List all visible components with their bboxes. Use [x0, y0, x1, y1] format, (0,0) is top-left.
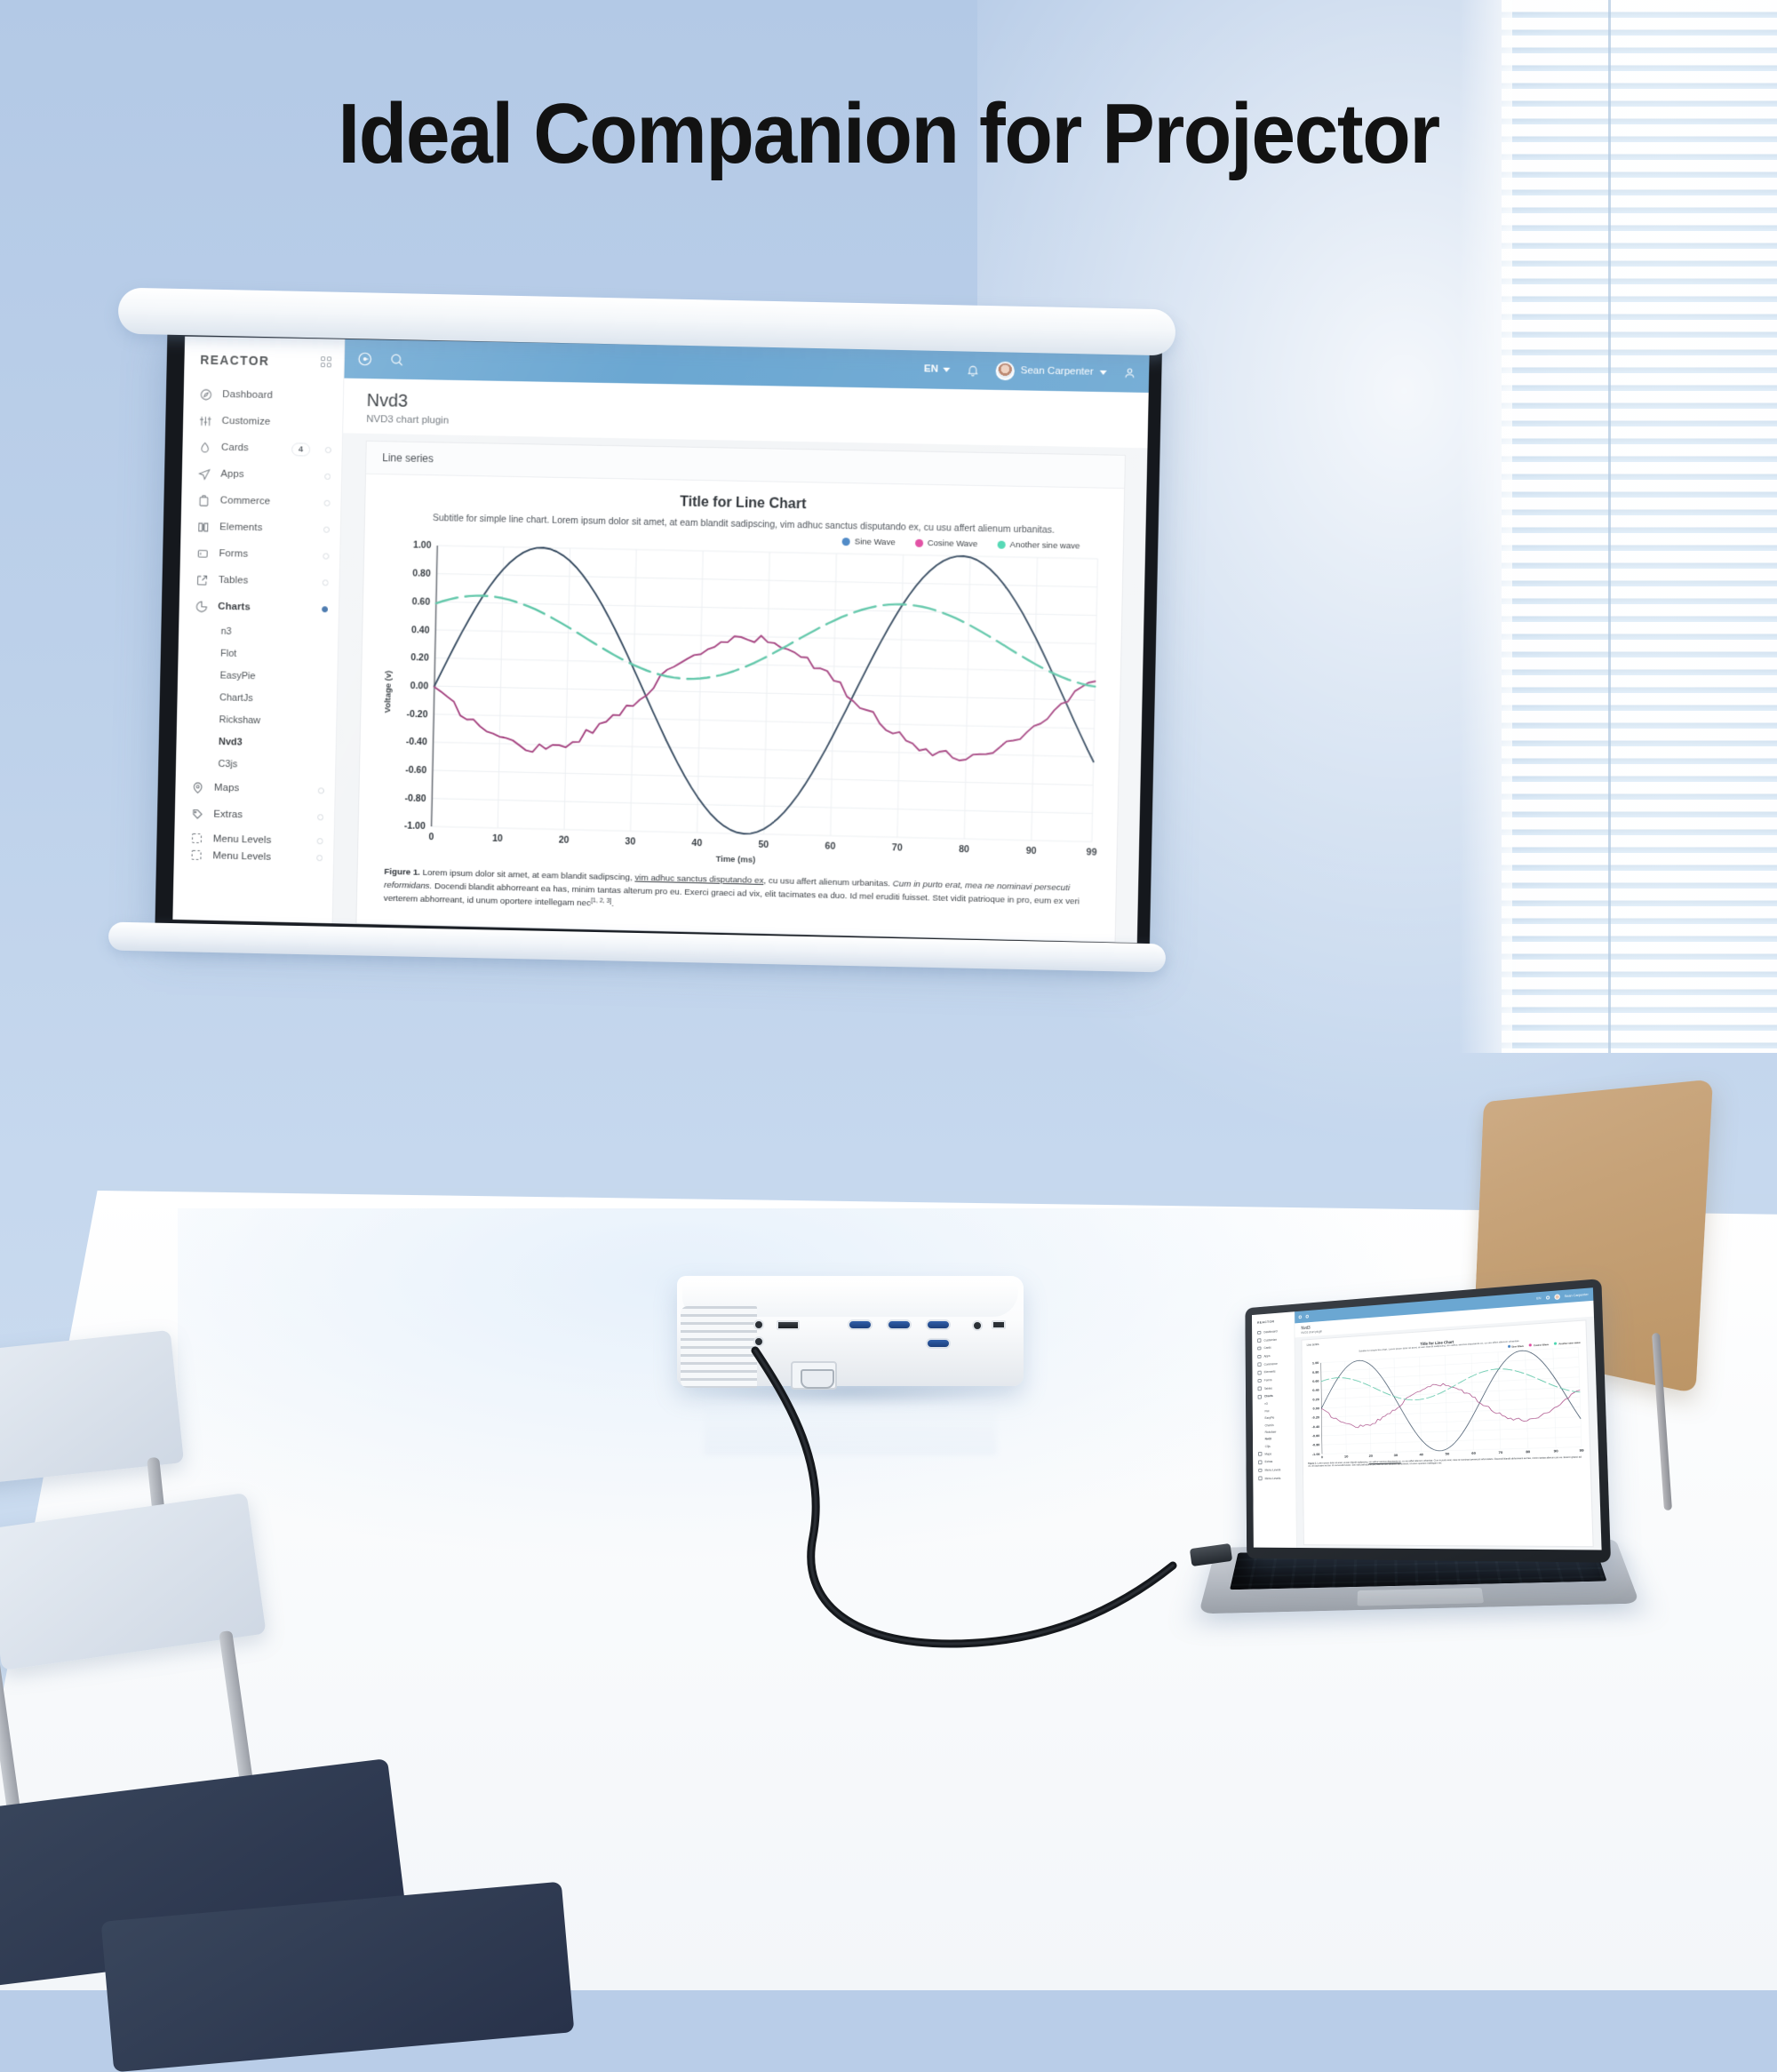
sidebar-item-label: Apps [220, 469, 315, 482]
sidebar-subitem-n3[interactable]: n3 [179, 619, 339, 645]
form-icon [196, 546, 210, 560]
laptop-screen: REACTOR Dashboard Customize Cards Apps C… [1252, 1287, 1602, 1550]
sidebar-item-customize[interactable]: Customize [183, 407, 343, 436]
svg-text:0: 0 [428, 832, 434, 842]
sidebar-badge-count: 4 [291, 442, 310, 456]
book-icon [196, 520, 210, 533]
svg-text:99: 99 [1579, 1448, 1583, 1452]
projector [677, 1260, 1024, 1411]
user-menu[interactable]: Sean Carpenter [995, 361, 1107, 381]
language-label: EN [924, 363, 938, 374]
figure-caption-label: Figure 1. [384, 867, 420, 878]
projector-body [677, 1276, 1024, 1386]
laptop: REACTOR Dashboard Customize Cards Apps C… [1217, 1293, 1617, 1666]
grid-icon[interactable] [320, 356, 331, 368]
svg-text:10: 10 [1344, 1454, 1348, 1458]
svg-text:-0.20: -0.20 [406, 708, 427, 720]
sidebar-status-dot [323, 526, 330, 532]
laptop-lid: REACTOR Dashboard Customize Cards Apps C… [1245, 1279, 1611, 1563]
legend-item-another-sine-wave[interactable]: Another sine wave [997, 539, 1080, 551]
laptop-trackpad[interactable] [1357, 1588, 1484, 1606]
svg-text:-0.40: -0.40 [1312, 1425, 1320, 1429]
sidebar-item-charts[interactable]: Charts [179, 593, 339, 623]
sidebar-item-label: Charts [218, 602, 312, 614]
legend-label: Cosine Wave [928, 538, 978, 549]
sidebar-item-cards[interactable]: Cards 4 [182, 434, 342, 463]
chart-card: Line series Title for Line Chart Subtitl… [355, 441, 1126, 943]
svg-text:20: 20 [1369, 1454, 1373, 1458]
mini-bell-icon[interactable] [1546, 1295, 1550, 1299]
dashboard-app: REACTOR Dashboard [172, 337, 1149, 944]
svg-text:1.00: 1.00 [1312, 1361, 1319, 1365]
projector-vent [681, 1306, 757, 1388]
screen-frame: REACTOR Dashboard [155, 322, 1162, 955]
sidebar-item-label: Forms [219, 548, 313, 561]
svg-text:0.00: 0.00 [410, 681, 429, 692]
vga-port [848, 1319, 873, 1330]
projector-power-socket [791, 1361, 837, 1390]
mini-avatar [1554, 1294, 1560, 1300]
avatar [995, 361, 1015, 379]
svg-text:-1.00: -1.00 [404, 821, 426, 833]
dashed-square-icon [190, 849, 203, 862]
mini-chart-card: Line series Title for Line Chart Subtitl… [1301, 1319, 1593, 1547]
svg-text:60: 60 [825, 841, 835, 852]
headline: Ideal Companion for Projector [62, 85, 1715, 183]
svg-text:-0.80: -0.80 [1312, 1443, 1320, 1446]
legend-swatch [915, 538, 923, 546]
figure-caption-text-2: , cu usu affert alienum urbanitas. [763, 876, 892, 889]
sidebar-item-forms[interactable]: Forms [180, 539, 340, 569]
svg-text:40: 40 [691, 838, 702, 849]
svg-text:0.40: 0.40 [1312, 1389, 1319, 1392]
svg-text:60: 60 [1471, 1452, 1476, 1455]
svg-text:0.80: 0.80 [1312, 1370, 1319, 1374]
bell-icon[interactable] [966, 363, 979, 377]
sidebar-status-dot-active [322, 606, 328, 612]
sliders-icon [199, 414, 212, 427]
sidebar-status-dot [316, 855, 323, 861]
user-icon[interactable] [1123, 366, 1136, 379]
legend-item-cosine-wave[interactable]: Cosine Wave [915, 538, 978, 548]
svg-text:99: 99 [1086, 847, 1096, 858]
svg-text:80: 80 [959, 843, 969, 855]
legend-swatch [997, 540, 1005, 548]
plot-row: Voltage (v) 1.000.800.600.400.200.00-0.2… [378, 539, 1103, 862]
power-jack [972, 1320, 983, 1331]
language-selector[interactable]: EN [924, 363, 950, 375]
legend-label: Another sine wave [1009, 540, 1080, 552]
sidebar-item-label: Dashboard [222, 389, 332, 402]
svg-text:20: 20 [559, 834, 570, 846]
user-name: Sean Carpenter [1021, 365, 1094, 378]
figure-caption-text-4: . [611, 899, 614, 909]
svg-text:0.20: 0.20 [410, 652, 429, 664]
svg-text:80: 80 [1526, 1450, 1530, 1454]
sidebar-item-extras[interactable]: Extras [175, 801, 335, 831]
sidebar-status-dot [324, 499, 331, 506]
map-pin-icon [191, 781, 204, 794]
svg-text:0.60: 0.60 [1312, 1379, 1319, 1383]
svg-text:90: 90 [1554, 1449, 1558, 1453]
line-chart-svg: 1.000.800.600.400.200.00-0.20-0.40-0.60-… [392, 539, 1103, 861]
svg-text:0.00: 0.00 [1313, 1407, 1319, 1410]
laptop-dashboard-mirror: REACTOR Dashboard Customize Cards Apps C… [1252, 1287, 1602, 1550]
svg-text:-0.20: -0.20 [1311, 1415, 1319, 1419]
power-icon[interactable] [357, 351, 373, 367]
svg-text:90: 90 [1025, 845, 1036, 857]
search-icon[interactable] [388, 352, 404, 368]
hdmi-port [777, 1320, 800, 1330]
svg-text:1.00: 1.00 [413, 540, 432, 552]
mini-language[interactable]: EN [1536, 1296, 1541, 1301]
legend-item-sine-wave[interactable]: Sine Wave [842, 537, 896, 547]
sidebar-subitem-easypie[interactable]: EasyPie [178, 664, 338, 689]
mini-power-icon[interactable] [1299, 1315, 1303, 1319]
audio-port [753, 1319, 764, 1330]
svg-text:-0.60: -0.60 [1312, 1434, 1320, 1438]
legend-label: Sine Wave [855, 537, 896, 547]
sidebar-status-dot [318, 787, 324, 793]
figure-caption-underlined: vim adhuc sanctus disputando ex [634, 873, 763, 885]
sidebar-item-label: Tables [219, 575, 313, 587]
pie-chart-icon [195, 600, 208, 613]
svg-text:30: 30 [1394, 1454, 1398, 1457]
chevron-down-icon [943, 367, 950, 371]
sidebar-status-dot [324, 473, 331, 479]
svg-text:-0.80: -0.80 [404, 793, 426, 804]
svg-text:10: 10 [492, 833, 503, 843]
sidebar-status-dot [325, 446, 331, 452]
vga-port [887, 1319, 912, 1330]
page-body: Line series Title for Line Chart Subtitl… [333, 433, 1148, 943]
mini-page-body: Line series Title for Line Chart Subtitl… [1295, 1317, 1601, 1550]
sidebar-subitem-chartjs[interactable]: ChartJs [177, 685, 337, 711]
sidebar-status-dot [317, 838, 323, 844]
droplet-icon [198, 441, 211, 454]
chevron-down-icon [1100, 370, 1107, 374]
serial-port [926, 1338, 951, 1349]
sidebar-item-label: Cards [221, 442, 282, 454]
svg-text:30: 30 [625, 836, 635, 848]
svg-text:0.40: 0.40 [411, 624, 430, 635]
external-link-icon [195, 573, 209, 586]
mini-sidebar: REACTOR Dashboard Customize Cards Apps C… [1252, 1311, 1297, 1548]
svg-text:-1.00: -1.00 [1312, 1453, 1320, 1456]
sidebar-subitem-flot[interactable]: Flot [178, 642, 338, 667]
sidebar: REACTOR Dashboard [172, 337, 345, 924]
figure-caption-superscript: [1, 2, 3] [591, 897, 611, 905]
plot-area: 1.000.800.600.400.200.00-0.20-0.40-0.60-… [392, 539, 1103, 861]
sidebar-status-dot [323, 553, 329, 559]
figure-caption-text-1: Lorem ipsum dolor sit amet, at eam bland… [420, 867, 635, 882]
brand-row: REACTOR [184, 347, 344, 384]
usb-port [992, 1320, 1006, 1329]
svg-text:-0.40: -0.40 [406, 737, 427, 748]
sidebar-item-dashboard[interactable]: Dashboard [183, 380, 343, 410]
sidebar-item-label: Customize [221, 416, 331, 428]
sidebar-item-label: Menu Levels [212, 850, 307, 863]
chairs-left [0, 1288, 551, 1955]
sidebar-item-tables[interactable]: Tables [179, 566, 339, 596]
legend-swatch [842, 538, 850, 546]
svg-text:50: 50 [758, 839, 769, 850]
card-body: Title for Line Chart Subtitle for simple… [357, 474, 1125, 930]
compass-icon [199, 387, 212, 401]
svg-text:0.60: 0.60 [412, 596, 431, 608]
svg-text:50: 50 [1446, 1452, 1450, 1455]
bag-icon [197, 493, 211, 506]
send-icon [197, 467, 211, 481]
svg-text:-0.60: -0.60 [405, 764, 426, 776]
vga-port [926, 1319, 951, 1330]
mini-main: EN Sean Carpenter Nvd3 NVD3 chart plugin… [1295, 1287, 1601, 1550]
svg-text:0.20: 0.20 [1312, 1398, 1319, 1401]
projector-reflection [704, 1393, 997, 1455]
sidebar-item-label: Elements [219, 522, 314, 534]
svg-text:40: 40 [1419, 1453, 1423, 1456]
brand-logo: REACTOR [200, 353, 269, 368]
mini-line-chart-svg: 1.000.800.600.400.200.00-0.20-0.40-0.60-… [1307, 1345, 1584, 1461]
projection-screen: REACTOR Dashboard [123, 299, 1171, 1072]
sidebar-item-label: Commerce [220, 495, 315, 507]
screen-surface: REACTOR Dashboard [172, 337, 1149, 944]
sidebar-item-maps[interactable]: Maps [175, 774, 335, 804]
tag-icon [190, 808, 203, 821]
sidebar-item-label: Extras [213, 809, 307, 822]
sidebar-item-label: Menu Levels [213, 833, 307, 846]
svg-text:70: 70 [892, 842, 903, 854]
sidebar-status-dot [317, 814, 323, 820]
sidebar-item-commerce[interactable]: Commerce [181, 487, 341, 516]
mini-search-icon[interactable] [1305, 1315, 1309, 1319]
dashed-square-icon [190, 832, 203, 845]
sidebar-item-elements[interactable]: Elements [180, 513, 340, 542]
sidebar-item-apps[interactable]: Apps [182, 460, 342, 490]
svg-text:70: 70 [1498, 1451, 1502, 1454]
mini-item-menu-levels-2[interactable]: Menu Levels [1253, 1474, 1295, 1483]
sidebar-status-dot [323, 579, 329, 586]
audio-port [753, 1336, 764, 1347]
svg-text:0.80: 0.80 [412, 568, 431, 579]
main-content: EN Sean Carpenter [333, 339, 1150, 943]
sidebar-item-menu-levels-2[interactable]: Menu Levels [174, 846, 334, 872]
sidebar-item-label: Maps [214, 783, 308, 795]
svg-text:0: 0 [1321, 1455, 1323, 1459]
mini-user-name[interactable]: Sean Carpenter [1565, 1293, 1589, 1298]
projector-port-panel [766, 1319, 1006, 1363]
